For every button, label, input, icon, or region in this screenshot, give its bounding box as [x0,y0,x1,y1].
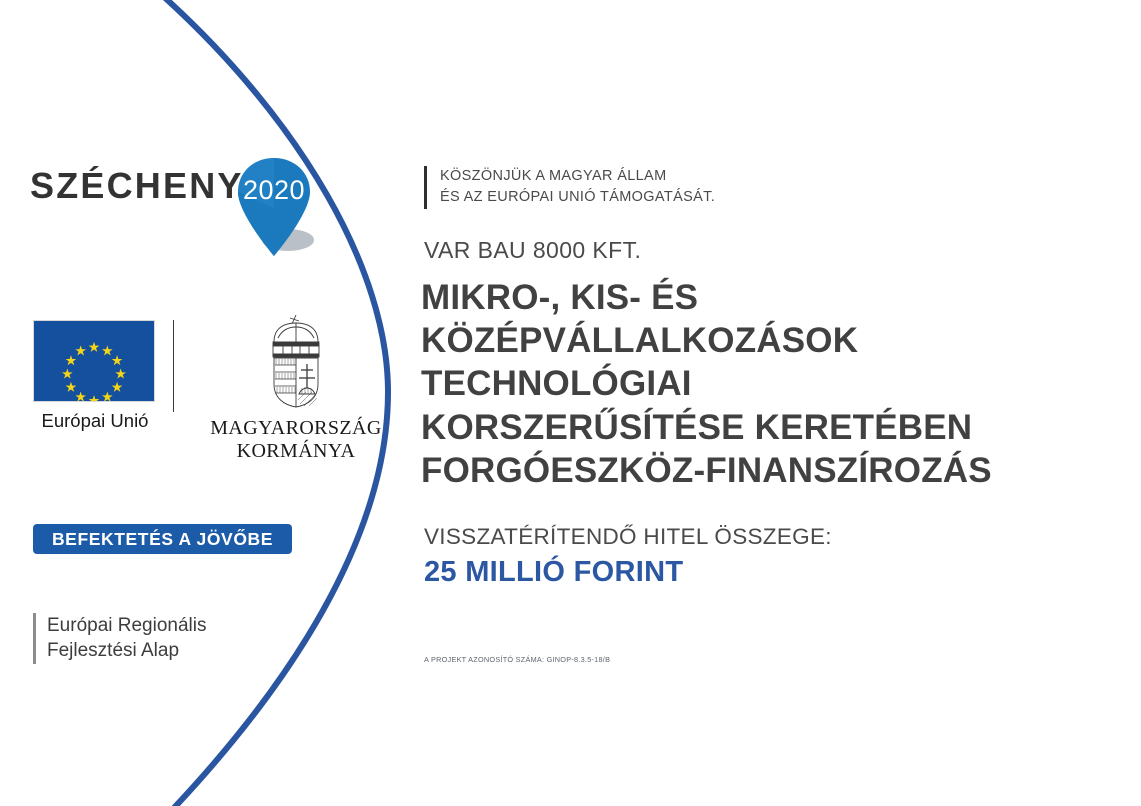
thanks-message: KÖSZÖNJÜK A MAGYAR ÁLLAM ÉS AZ EURÓPAI U… [424,166,715,209]
project-title-line-1: MIKRO-, KIS- ÉS [421,276,1121,319]
project-identifier: A PROJEKT AZONOSÍTÓ SZÁMA: GINOP-8.3.5-1… [424,655,610,664]
eu-flag-icon [33,320,155,402]
project-title-line-2: KÖZÉPVÁLLALKOZÁSOK [421,319,1121,362]
project-title-line-5: FORGÓESZKÖZ-FINANSZÍROZÁS [421,449,1121,492]
szechenyi-2020-logo: SZÉCHENYI 2020 [30,148,330,260]
logo-divider [173,320,174,412]
hungary-government-logo-block: MAGYARORSZÁG KORMÁNYA [196,312,396,463]
hungarian-coat-of-arms-icon [262,312,330,410]
project-title: MIKRO-, KIS- ÉS KÖZÉPVÁLLALKOZÁSOK TECHN… [421,276,1121,492]
hungary-caption-line-1: MAGYARORSZÁG [196,417,396,440]
thanks-line-2: ÉS AZ EURÓPAI UNIÓ TÁMOGATÁSÁT. [440,187,715,208]
invest-in-future-badge: BEFEKTETÉS A JÖVŐBE [33,524,292,554]
loan-amount-label: VISSZATÉRÍTENDŐ HITEL ÖSSZEGE: [424,524,832,550]
loan-amount-value: 25 MILLIÓ FORINT [424,556,683,589]
thanks-line-1: KÖSZÖNJÜK A MAGYAR ÁLLAM [440,166,715,187]
erdf-line-2: Fejlesztési Alap [47,638,207,663]
poster-canvas: SZÉCHENYI 2020 [0,0,1141,806]
map-pin-icon: 2020 [226,148,330,260]
project-title-line-4: KORSZERŰSÍTÉSE KERETÉBEN [421,406,1121,449]
eu-logo-block: Európai Unió [33,320,161,431]
beneficiary-company-name: VAR BAU 8000 KFT. [424,237,641,264]
hungary-logo-caption: MAGYARORSZÁG KORMÁNYA [196,417,396,463]
erdf-fund-block: Európai Regionális Fejlesztési Alap [33,613,207,664]
erdf-line-1: Európai Regionális [47,613,207,638]
eu-hungary-logo-row: Európai Unió [33,320,363,455]
szechenyi-wordmark: SZÉCHENYI [30,168,256,204]
hungary-caption-line-2: KORMÁNYA [196,440,396,463]
project-title-line-3: TECHNOLÓGIAI [421,362,1121,405]
eu-logo-caption: Európai Unió [33,410,157,431]
svg-text:2020: 2020 [243,175,305,205]
